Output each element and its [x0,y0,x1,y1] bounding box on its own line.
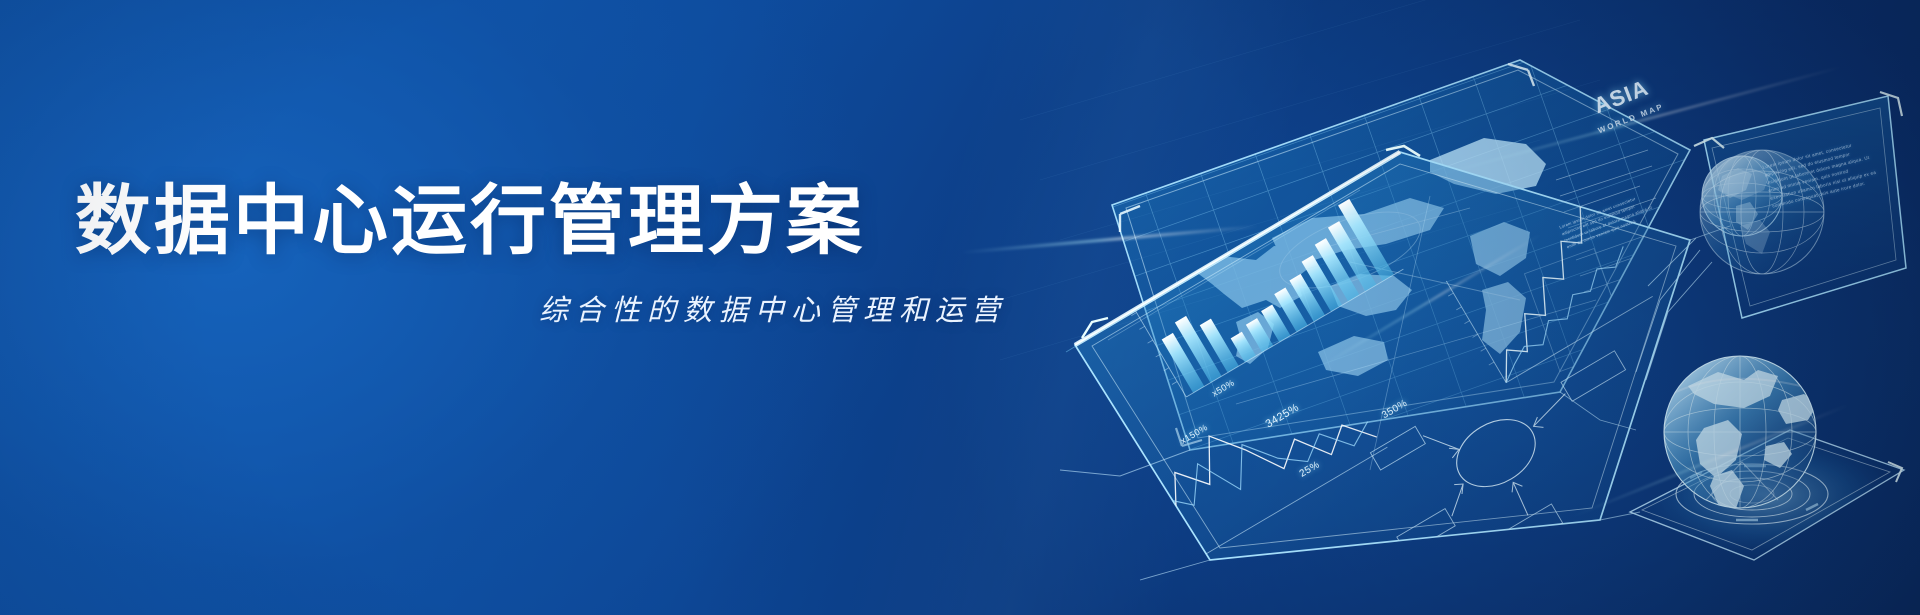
banner-copy: 数据中心运行管理方案 综合性的数据中心管理和运营 [75,182,1035,329]
hero-banner: 数据中心运行管理方案 综合性的数据中心管理和运营 [0,0,1920,615]
platform-globe-group [1630,356,1904,560]
hud-vector-art [1000,0,1920,615]
wireframe-globe-group [1700,150,1824,274]
page-title: 数据中心运行管理方案 [75,182,1035,263]
page-subtitle: 综合性的数据中心管理和运营 [75,287,1035,329]
hud-illustration: ASIA WORLD MAP Lorem ipsum dolor sit ame… [1000,0,1920,615]
